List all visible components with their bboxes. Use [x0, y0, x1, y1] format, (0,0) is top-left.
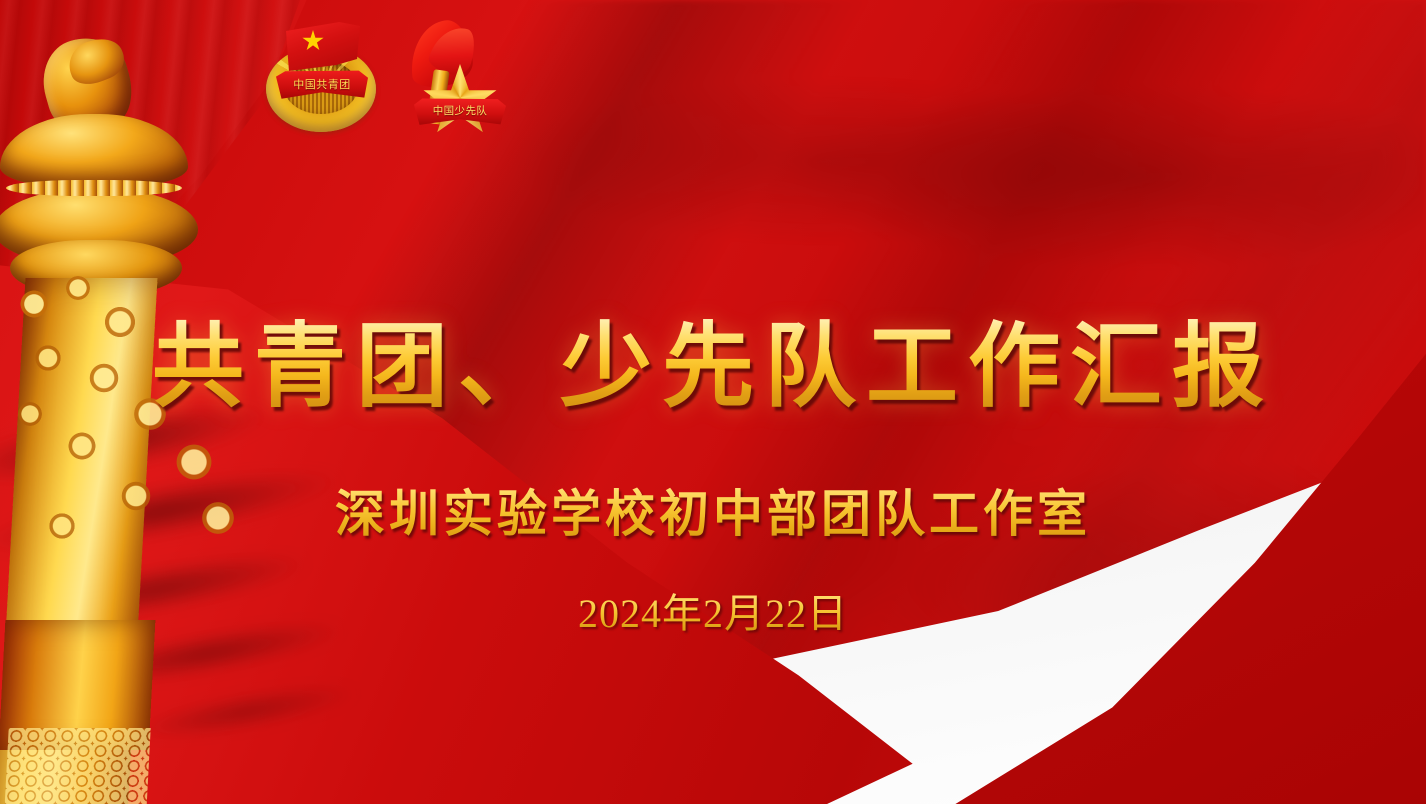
presentation-date: 2024年2月22日: [0, 581, 1426, 639]
page-title: 共青团、少先队工作汇报: [0, 318, 1426, 417]
presentation-title-slide: 中国共青团 中国少先队 共青团、少先队工作汇报 深圳实验学校初中部团队工作室 2…: [0, 0, 1426, 804]
column-bead-band: [6, 180, 182, 196]
column-cap: [0, 114, 188, 188]
young-pioneers-banner-text: 中国少先队: [414, 102, 506, 122]
youth-league-banner-text: 中国共青团: [276, 74, 368, 96]
young-pioneers-emblem: 中国少先队: [396, 22, 508, 134]
column-base-texture: [3, 728, 150, 804]
page-subtitle: 深圳实验学校初中部团队工作室: [0, 474, 1426, 546]
communist-youth-league-emblem: 中国共青团: [262, 18, 380, 136]
